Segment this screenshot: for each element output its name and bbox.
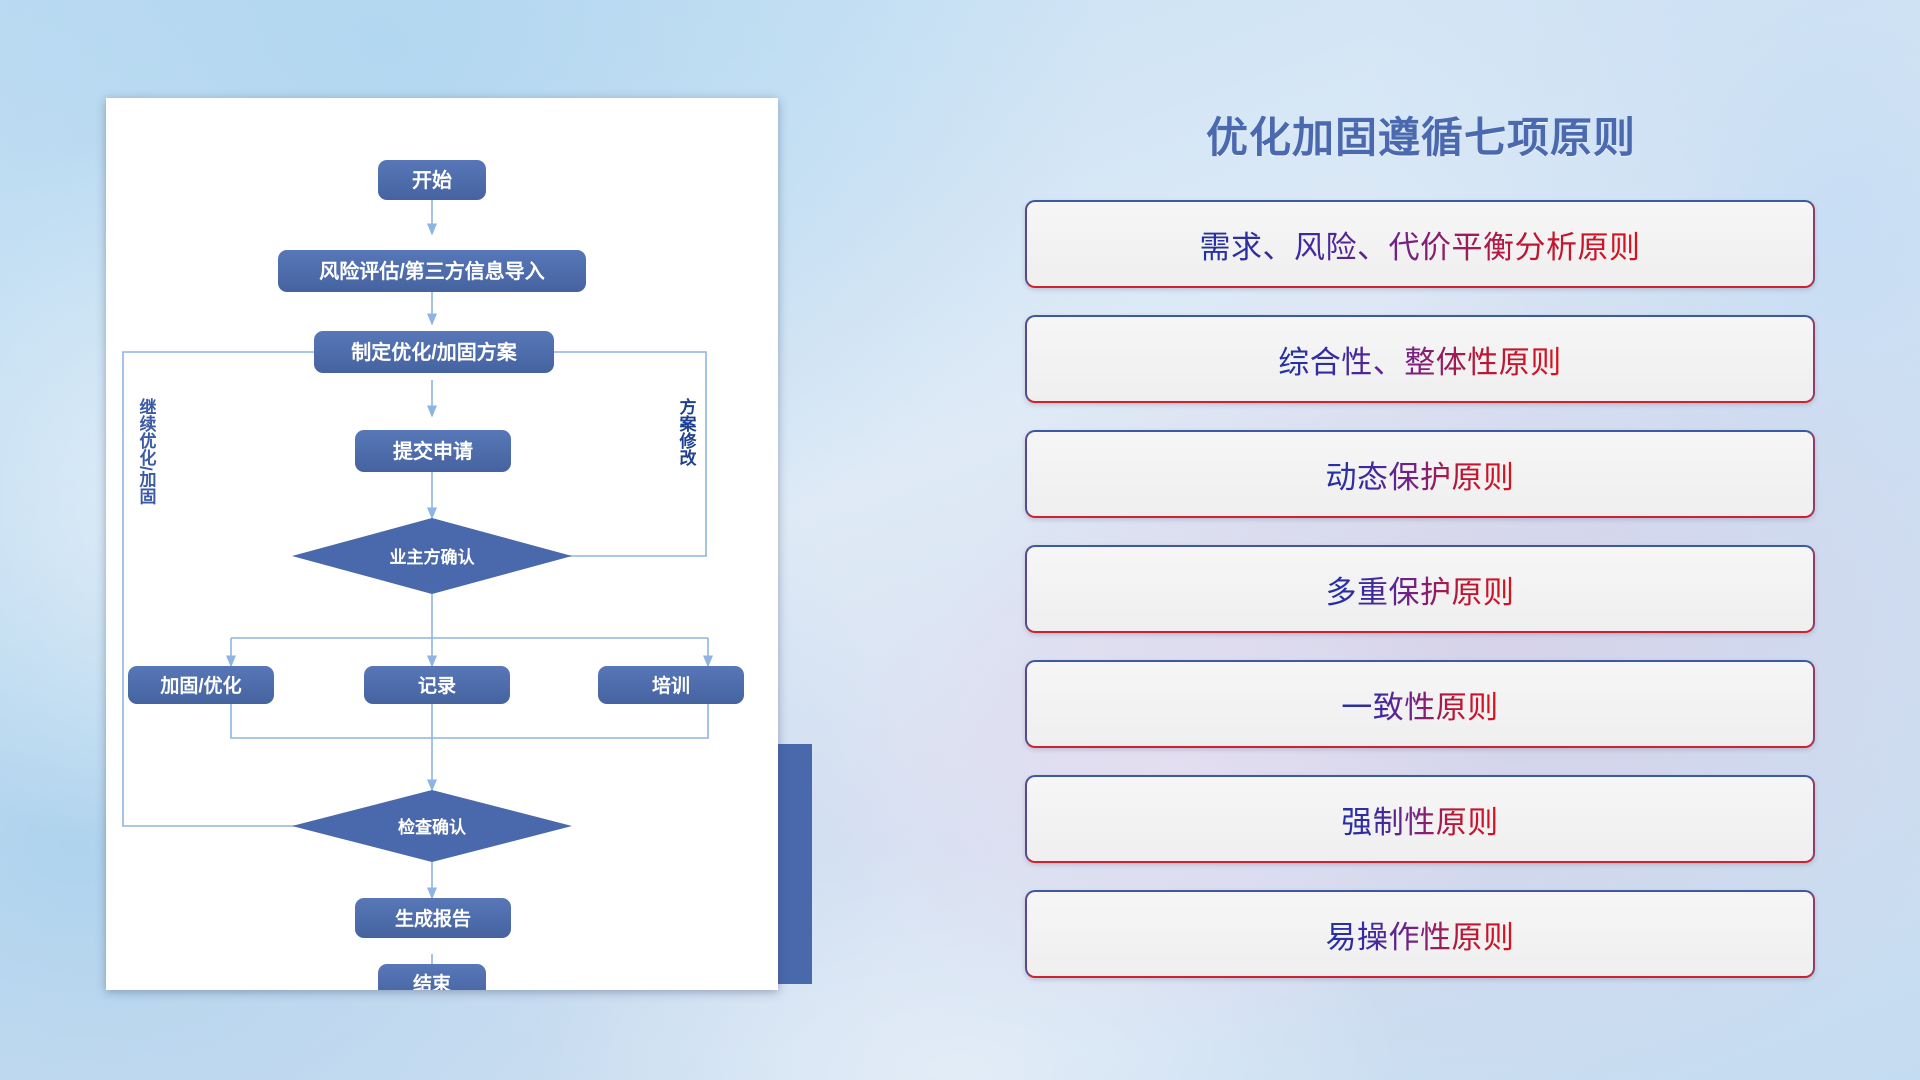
- principle-card-1[interactable]: 需求、风险、代价平衡分析原则: [1025, 200, 1815, 288]
- principle-card-5[interactable]: 一致性原则: [1025, 660, 1815, 748]
- flow-node-owner-confirm-label: 业主方确认: [390, 547, 476, 567]
- flow-node-report[interactable]: 生成报告: [355, 898, 511, 938]
- principles-panel: 优化加固遵循七项原则 需求、风险、代价平衡分析原则 综合性、整体性原则 动态保护…: [1015, 92, 1827, 1008]
- flow-edge-label-right-loop: 方案修改: [677, 397, 698, 467]
- flow-node-record[interactable]: 记录: [364, 666, 510, 704]
- principle-label-2: 综合性、整体性原则: [1278, 337, 1562, 382]
- principle-label-1: 需求、风险、代价平衡分析原则: [1200, 222, 1641, 267]
- panel-title: 优化加固遵循七项原则: [1015, 106, 1827, 170]
- flow-node-end-label: 结束: [413, 972, 452, 990]
- principle-label-3: 动态保护原则: [1326, 452, 1515, 497]
- principle-label-5: 一致性原则: [1341, 682, 1499, 727]
- flow-node-owner-confirm[interactable]: 业主方确认: [292, 518, 572, 594]
- flow-node-submit[interactable]: 提交申请: [355, 430, 511, 472]
- flow-node-reinforce[interactable]: 加固/优化: [128, 666, 274, 704]
- principle-card-7[interactable]: 易操作性原则: [1025, 890, 1815, 978]
- flow-node-reinforce-label: 加固/优化: [159, 674, 241, 697]
- flow-edge-label-left-loop: 继续优化/加固: [137, 397, 158, 506]
- flow-node-plan-label: 制定优化/加固方案: [351, 340, 518, 364]
- flow-node-check-confirm[interactable]: 检查确认: [292, 790, 572, 862]
- flow-node-report-label: 生成报告: [395, 907, 471, 930]
- flow-node-start[interactable]: 开始: [378, 160, 486, 200]
- flow-node-end[interactable]: 结束: [378, 964, 486, 990]
- flow-node-training-label: 培训: [652, 674, 690, 697]
- principle-label-4: 多重保护原则: [1326, 567, 1515, 612]
- flowchart-card: 开始 风险评估/第三方信息导入 制定优化/加固方案 提交申请 业主方确认 加固/…: [106, 98, 778, 990]
- flow-node-check-confirm-label: 检查确认: [398, 817, 467, 837]
- flow-node-record-label: 记录: [418, 675, 456, 697]
- principle-label-6: 强制性原则: [1341, 797, 1499, 842]
- flow-node-risk[interactable]: 风险评估/第三方信息导入: [278, 250, 586, 292]
- flow-node-training[interactable]: 培训: [598, 666, 744, 704]
- principle-card-3[interactable]: 动态保护原则: [1025, 430, 1815, 518]
- principle-card-6[interactable]: 强制性原则: [1025, 775, 1815, 863]
- principle-card-2[interactable]: 综合性、整体性原则: [1025, 315, 1815, 403]
- flow-node-risk-label: 风险评估/第三方信息导入: [319, 259, 545, 283]
- principle-card-4[interactable]: 多重保护原则: [1025, 545, 1815, 633]
- principle-label-7: 易操作性原则: [1326, 912, 1515, 957]
- flow-node-submit-label: 提交申请: [393, 439, 473, 463]
- flow-node-start-label: 开始: [412, 168, 452, 192]
- principles-list: 需求、风险、代价平衡分析原则 综合性、整体性原则 动态保护原则 多重保护原则 一…: [1025, 200, 1815, 1005]
- flowchart-diagram: 开始 风险评估/第三方信息导入 制定优化/加固方案 提交申请 业主方确认 加固/…: [106, 98, 778, 990]
- flow-node-plan[interactable]: 制定优化/加固方案: [314, 331, 554, 373]
